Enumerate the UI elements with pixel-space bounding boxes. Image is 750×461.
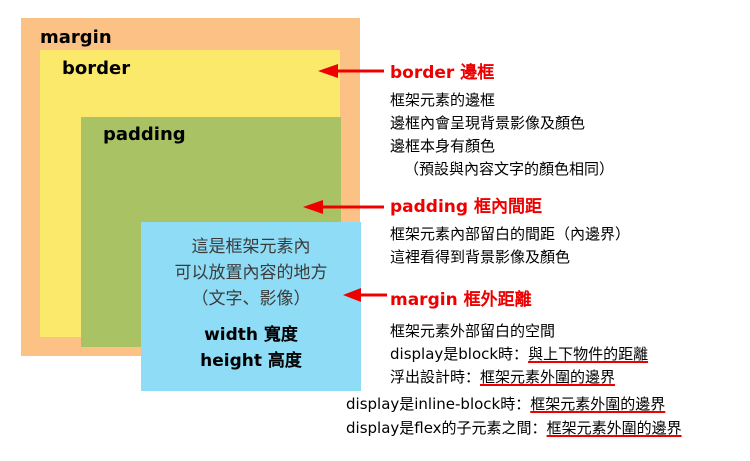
footnote-emphasis: 框架元素外圍的邊界 (530, 395, 665, 413)
footnote-prefix: display是flex的子元素之間： (346, 419, 547, 437)
footnote-line: display是flex的子元素之間：框架元素外圍的邊界 (346, 416, 682, 440)
content-dimension-width: width 寬度 (204, 325, 298, 345)
annotation-line: 框架元素的邊框 (390, 89, 614, 112)
annotation-margin-body: 框架元素外部留白的空間 display是block時：與上下物件的距離 浮出設計… (390, 320, 648, 389)
annotation-padding-body: 框架元素內部留白的間距（內邊界） 這裡看得到背景影像及顏色 (390, 223, 630, 269)
margin-layer: margin border padding 這是框架元素內 可以放置內容的地方 … (21, 18, 360, 356)
content-description: 這是框架元素內 可以放置內容的地方 （文字、影像） (141, 234, 361, 312)
annotation-padding-title: padding 框內間距 (390, 192, 630, 217)
border-pointer-arrow (318, 64, 384, 78)
padding-layer: padding 這是框架元素內 可以放置內容的地方 （文字、影像） width … (81, 117, 341, 347)
annotation-line: 框架元素內部留白的間距（內邊界） (390, 223, 630, 246)
annotation-line: 邊框內會呈現背景影像及顏色 (390, 112, 614, 135)
content-description-line: 可以放置內容的地方 (175, 263, 328, 283)
margin-layer-label: margin (40, 27, 112, 48)
annotation-line: display是block時：與上下物件的距離 (390, 343, 648, 366)
annotation-line: 浮出設計時：框架元素外圍的邊界 (390, 366, 648, 389)
content-description-line: 這是框架元素內 (192, 237, 311, 257)
content-dimensions: width 寬度 height 高度 (141, 322, 361, 374)
annotation-line-prefix: display是block時： (390, 345, 528, 363)
annotation-line-prefix: 浮出設計時： (390, 368, 480, 386)
annotation-line: 這裡看得到背景影像及顏色 (390, 246, 630, 269)
annotation-line: 框架元素外部留白的空間 (390, 320, 648, 343)
annotation-margin-title: margin 框外距離 (390, 285, 648, 310)
border-layer: border padding 這是框架元素內 可以放置內容的地方 （文字、影像）… (40, 50, 340, 337)
annotation-border: border 邊框 框架元素的邊框 邊框內會呈現背景影像及顏色 邊框本身有顏色 … (390, 58, 614, 181)
footnote-emphasis: 框架元素外圍的邊界 (547, 419, 682, 437)
annotation-border-title: border 邊框 (390, 58, 614, 83)
content-description-line: （文字、影像） (192, 289, 311, 309)
content-layer: 這是框架元素內 可以放置內容的地方 （文字、影像） width 寬度 heigh… (141, 222, 361, 391)
annotation-margin: margin 框外距離 框架元素外部留白的空間 display是block時：與… (390, 285, 648, 389)
border-layer-label: border (62, 58, 130, 79)
annotation-line-emphasis: 與上下物件的距離 (528, 345, 648, 363)
annotation-line-emphasis: 框架元素外圍的邊界 (480, 368, 615, 386)
annotation-padding: padding 框內間距 框架元素內部留白的間距（內邊界） 這裡看得到背景影像及… (390, 192, 630, 269)
footnotes: display是inline-block時：框架元素外圍的邊界 display是… (346, 392, 682, 440)
annotation-line: （預設與內容文字的顏色相同） (390, 158, 614, 181)
content-dimension-height: height 高度 (200, 351, 302, 371)
margin-pointer-arrow (343, 288, 387, 302)
padding-pointer-arrow (303, 200, 384, 214)
footnote-line: display是inline-block時：框架元素外圍的邊界 (346, 392, 682, 416)
footnote-prefix: display是inline-block時： (346, 395, 530, 413)
padding-layer-label: padding (103, 124, 186, 145)
box-model-diagram: margin border padding 這是框架元素內 可以放置內容的地方 … (21, 18, 360, 356)
annotation-line: 邊框本身有顏色 (390, 135, 614, 158)
annotation-border-body: 框架元素的邊框 邊框內會呈現背景影像及顏色 邊框本身有顏色 （預設與內容文字的顏… (390, 89, 614, 181)
